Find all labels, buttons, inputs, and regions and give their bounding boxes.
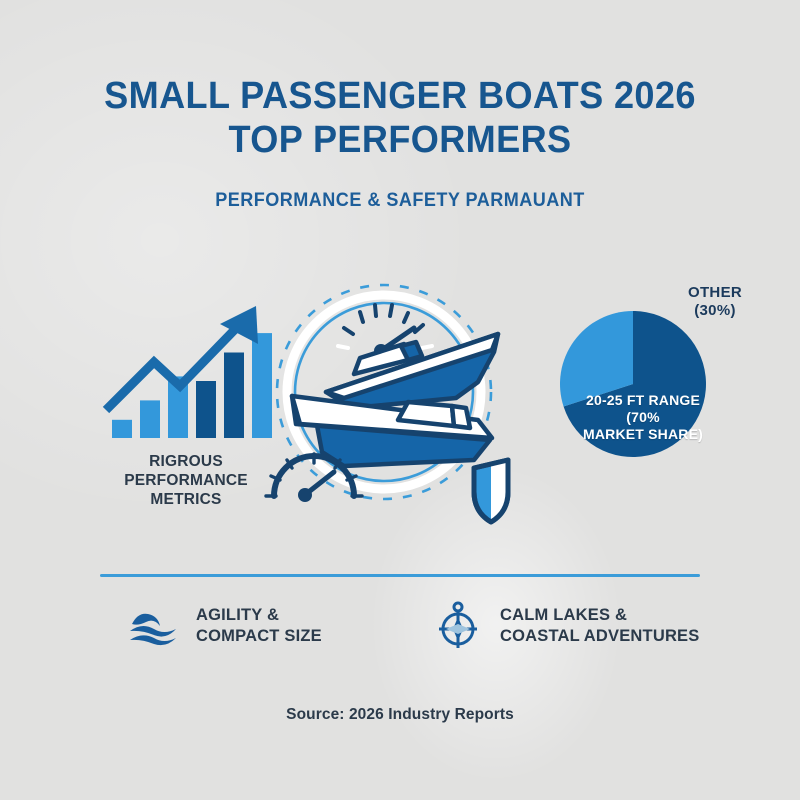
metrics-block: RIGROUS PERFORMANCE METRICS (96, 300, 276, 510)
two-boats-badge-icon (256, 274, 526, 534)
feature-destinations-label: CALM LAKES & COASTAL ADVENTURES (500, 605, 699, 646)
title-line-2: TOP PERFORMERS (20, 118, 780, 162)
pie-label-major-line-2: (70% (554, 409, 732, 426)
market-share-pie-chart: OTHER (30%) 20-25 FT RANGE (70% MARKET S… (540, 284, 770, 514)
feature-agility-line-2: COMPACT SIZE (196, 626, 322, 647)
metrics-caption-line-1: RIGROUS (96, 453, 276, 472)
features-row: AGILITY & COMPACT SIZE CALM LAKES & COAS… (0, 596, 800, 666)
main-visual-row: RIGROUS PERFORMANCE METRICS (0, 278, 800, 528)
pie-label-other-line-1: OTHER (660, 284, 770, 302)
metrics-caption: RIGROUS PERFORMANCE METRICS (96, 453, 276, 510)
section-divider (100, 574, 700, 577)
feature-agility: AGILITY & COMPACT SIZE (128, 600, 322, 652)
source-note: Source: 2026 Industry Reports (0, 706, 800, 724)
feature-destinations-line-2: COASTAL ADVENTURES (500, 626, 699, 647)
feature-agility-line-1: AGILITY & (196, 605, 322, 626)
bar-5 (224, 353, 244, 439)
compass-icon (432, 600, 484, 652)
pie-label-major-line-1: 20-25 FT RANGE (554, 392, 732, 409)
page-title: SMALL PASSENGER BOATS 2026 TOP PERFORMER… (20, 74, 780, 162)
bar-2 (140, 400, 160, 438)
page-subtitle: PERFORMANCE & SAFETY PARMAUANT (20, 190, 780, 212)
pie-label-major-line-3: MARKET SHARE) (554, 426, 732, 443)
header: SMALL PASSENGER BOATS 2026 TOP PERFORMER… (0, 74, 800, 212)
pie-label-other: OTHER (30%) (660, 284, 770, 320)
feature-destinations-line-1: CALM LAKES & (500, 605, 699, 626)
metrics-caption-line-2: PERFORMANCE (96, 472, 276, 491)
feature-agility-label: AGILITY & COMPACT SIZE (196, 605, 322, 646)
bar-4 (196, 381, 216, 438)
shield-icon (474, 460, 508, 522)
pie-label-other-line-2: (30%) (660, 302, 770, 320)
bar-1 (112, 420, 132, 438)
bar-chart-growth-icon (96, 300, 276, 440)
metrics-caption-line-3: METRICS (96, 491, 276, 510)
infographic-canvas: SMALL PASSENGER BOATS 2026 TOP PERFORMER… (0, 0, 800, 800)
pie-label-major: 20-25 FT RANGE (70% MARKET SHARE) (554, 392, 732, 443)
feature-destinations: CALM LAKES & COASTAL ADVENTURES (432, 600, 699, 652)
wave-icon (128, 600, 180, 652)
title-line-1: SMALL PASSENGER BOATS 2026 (20, 74, 780, 118)
